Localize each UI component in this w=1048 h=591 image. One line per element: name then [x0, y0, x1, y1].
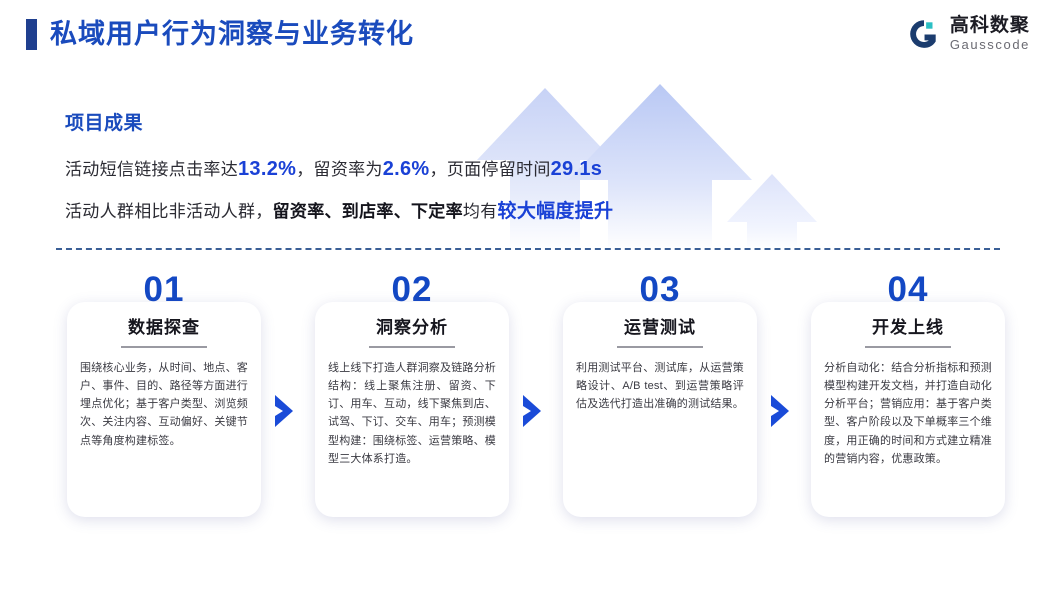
step-title-rule: [617, 346, 703, 348]
results-line2-text1: 活动人群相比非活动人群，: [65, 202, 273, 221]
chevron-right-icon: [272, 394, 296, 428]
chevron-right-icon: [768, 394, 792, 428]
step-title-rule: [121, 346, 207, 348]
step-title: 开发上线: [824, 319, 992, 336]
step-title-rule: [865, 346, 951, 348]
results-heading: 项目成果: [65, 108, 613, 135]
step-number: 02: [315, 272, 509, 306]
step-title: 运营测试: [576, 319, 744, 336]
page-title: 私域用户行为洞察与业务转化: [50, 21, 414, 48]
step-description: 分析自动化：结合分析指标和预测模型构建开发文档，并打造自动化分析平台；营销应用：…: [824, 359, 992, 468]
step-number: 03: [563, 272, 757, 306]
step-card-body[interactable]: 数据探查 围绕核心业务，从时间、地点、客户、事件、目的、路径等方面进行埋点优化；…: [67, 302, 261, 517]
results-line-1: 活动短信链接点击率达13.2%，留资率为2.6%，页面停留时间29.1s: [65, 156, 613, 182]
step-title-rule: [369, 346, 455, 348]
results-line-2: 活动人群相比非活动人群，留资率、到店率、下定率均有较大幅度提升: [65, 200, 613, 225]
brand-name-en: Gausscode: [950, 38, 1030, 51]
metric-click-rate: 13.2%: [238, 158, 296, 180]
gausscode-logo-icon: [907, 17, 941, 51]
step-card-02[interactable]: 02 洞察分析 线上线下打造人群洞察及链路分析结构：线上聚焦注册、留资、下订、用…: [315, 272, 509, 306]
section-divider: [56, 248, 1000, 250]
step-description: 围绕核心业务，从时间、地点、客户、事件、目的、路径等方面进行埋点优化；基于客户类…: [80, 359, 248, 450]
title-accent-bar: [26, 19, 37, 50]
step-card-04[interactable]: 04 开发上线 分析自动化：结合分析指标和预测模型构建开发文档，并打造自动化分析…: [811, 272, 1005, 306]
step-title: 洞察分析: [328, 319, 496, 336]
results-line1-text2: ，留资率为: [296, 160, 383, 179]
step-description: 线上线下打造人群洞察及链路分析结构：线上聚焦注册、留资、下订、用车、互动，线下聚…: [328, 359, 496, 468]
metric-dwell-time: 29.1s: [551, 158, 603, 180]
step-card-03[interactable]: 03 运营测试 利用测试平台、测试库，从运营策略设计、A/B test、到运营策…: [563, 272, 757, 306]
step-card-body[interactable]: 洞察分析 线上线下打造人群洞察及链路分析结构：线上聚焦注册、留资、下订、用车、互…: [315, 302, 509, 517]
brand-name-cn: 高科数聚: [950, 16, 1030, 35]
brand-logo: 高科数聚 Gausscode: [907, 16, 1030, 51]
brand-logo-text: 高科数聚 Gausscode: [950, 16, 1030, 51]
step-card-body[interactable]: 开发上线 分析自动化：结合分析指标和预测模型构建开发文档，并打造自动化分析平台；…: [811, 302, 1005, 517]
step-card-body[interactable]: 运营测试 利用测试平台、测试库，从运营策略设计、A/B test、到运营策略评估…: [563, 302, 757, 517]
page-header: 私域用户行为洞察与业务转化 高科数聚 Gausscode: [0, 0, 1048, 78]
process-steps: 01 数据探查 围绕核心业务，从时间、地点、客户、事件、目的、路径等方面进行埋点…: [0, 272, 1048, 532]
page-title-group: 私域用户行为洞察与业务转化: [26, 19, 414, 50]
step-card-01[interactable]: 01 数据探查 围绕核心业务，从时间、地点、客户、事件、目的、路径等方面进行埋点…: [67, 272, 261, 306]
step-number: 04: [811, 272, 1005, 306]
chevron-right-icon: [520, 394, 544, 428]
results-line2-highlight: 较大幅度提升: [498, 201, 614, 222]
metric-lead-rate: 2.6%: [383, 158, 430, 180]
project-results-block: 项目成果 活动短信链接点击率达13.2%，留资率为2.6%，页面停留时间29.1…: [65, 108, 613, 243]
results-line2-text2: 均有: [463, 202, 498, 221]
results-line1-text3: ，页面停留时间: [430, 160, 551, 179]
step-description: 利用测试平台、测试库，从运营策略设计、A/B test、到运营策略评估及选代打造…: [576, 359, 744, 413]
results-line2-bold: 留资率、到店率、下定率: [273, 202, 463, 221]
step-title: 数据探查: [80, 319, 248, 336]
step-number: 01: [67, 272, 261, 306]
results-line1-text1: 活动短信链接点击率达: [65, 160, 238, 179]
